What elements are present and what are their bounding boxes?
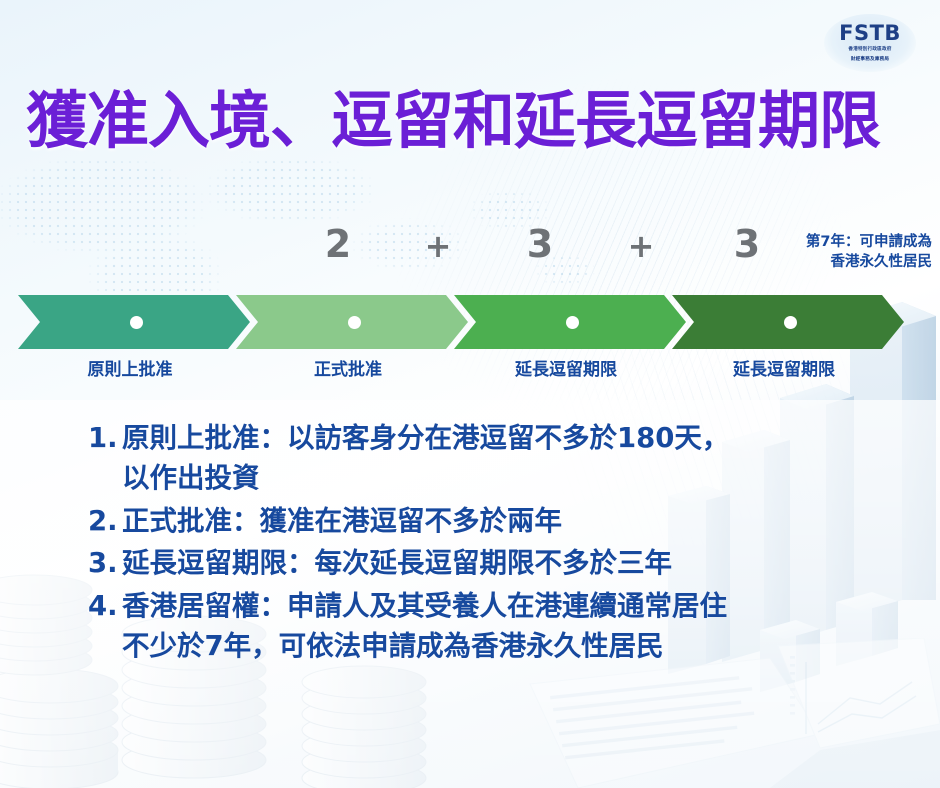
- list-item: 1. 原則上批准：以訪客身分在港逗留不多於180天， 以作出投資: [88, 418, 898, 499]
- list-item-4-marker: 4.: [88, 586, 122, 626]
- timeline-label-row: 原則上批准 正式批准 延長逗留期限 延長逗留期限: [18, 355, 922, 381]
- timeline-step-2-chevron[interactable]: [236, 295, 468, 349]
- list-item-3-line-1: 延長逗留期限：每次延長逗留期限不多於三年: [122, 543, 898, 583]
- note-line-1: 第7年：可申請成為: [754, 233, 932, 253]
- list-item-2-marker: 2.: [88, 501, 122, 541]
- permanent-residency-note: 第7年：可申請成為 香港永久性居民: [754, 233, 932, 272]
- fstb-logo: FSTB 香港特別行政區政府 財經事務及庫務局: [824, 14, 916, 72]
- timeline-plus-3: +: [628, 230, 655, 262]
- list-item-2-line-1: 正式批准：獲准在港逗留不多於兩年: [122, 501, 898, 541]
- timeline-step-1-label: 原則上批准: [88, 355, 173, 380]
- list-item-2-body: 正式批准：獲准在港逗留不多於兩年: [122, 501, 898, 541]
- timeline-step-1-chevron[interactable]: [18, 295, 250, 349]
- list-item-1-marker: 1.: [88, 418, 122, 458]
- timeline-chevron-row: [18, 295, 922, 349]
- list-item-1-line-2: 以作出投資: [122, 458, 898, 498]
- note-line-2: 香港永久性居民: [754, 253, 932, 273]
- list-item-3-body: 延長逗留期限：每次延長逗留期限不多於三年: [122, 543, 898, 583]
- step-3-dot-icon: [566, 316, 579, 329]
- list-item-4-line-1: 香港居留權：申請人及其受養人在港連續通常居住: [122, 586, 898, 626]
- timeline-step-4-chevron[interactable]: [672, 295, 904, 349]
- timeline-step-4-label: 延長逗留期限: [733, 355, 835, 380]
- timeline-number-0: 2: [325, 225, 351, 263]
- logo-chinese-line-1: 香港特別行政區政府: [848, 47, 891, 54]
- step-4-dot-icon: [784, 316, 797, 329]
- list-item-1-line-1: 原則上批准：以訪客身分在港逗留不多於180天，: [122, 418, 898, 458]
- list-item: 2. 正式批准：獲准在港逗留不多於兩年: [88, 501, 898, 541]
- timeline-step-3-label: 延長逗留期限: [515, 355, 617, 380]
- stay-duration-timeline: 2 + 3 + 3 第7年：可申請成為 香港永久性居民 原則上批准: [0, 225, 940, 375]
- logo-mark-text: FSTB: [839, 23, 901, 44]
- step-2-dot-icon: [348, 316, 361, 329]
- list-item: 4. 香港居留權：申請人及其受養人在港連續通常居住 不少於7年，可依法申請成為香…: [88, 586, 898, 667]
- timeline-step-2-label: 正式批准: [314, 355, 382, 380]
- list-item-1-body: 原則上批准：以訪客身分在港逗留不多於180天， 以作出投資: [122, 418, 898, 499]
- step-1-dot-icon: [130, 316, 143, 329]
- logo-chinese-line-2: 財經事務及庫務局: [851, 57, 889, 64]
- conditions-list: 1. 原則上批准：以訪客身分在港逗留不多於180天， 以作出投資 2. 正式批准…: [88, 418, 898, 669]
- timeline-plus-1: +: [425, 230, 452, 262]
- slide-canvas: FSTB 香港特別行政區政府 財經事務及庫務局 獲准入境、逗留和延長逗留期限 2…: [0, 0, 940, 788]
- list-item-4-line-2: 不少於7年，可依法申請成為香港永久性居民: [122, 626, 898, 666]
- timeline-number-2: 3: [527, 225, 553, 263]
- list-item-3-marker: 3.: [88, 543, 122, 583]
- list-item-4-body: 香港居留權：申請人及其受養人在港連續通常居住 不少於7年，可依法申請成為香港永久…: [122, 586, 898, 667]
- page-title: 獲准入境、逗留和延長逗留期限: [26, 88, 916, 153]
- list-item: 3. 延長逗留期限：每次延長逗留期限不多於三年: [88, 543, 898, 583]
- timeline-step-3-chevron[interactable]: [454, 295, 686, 349]
